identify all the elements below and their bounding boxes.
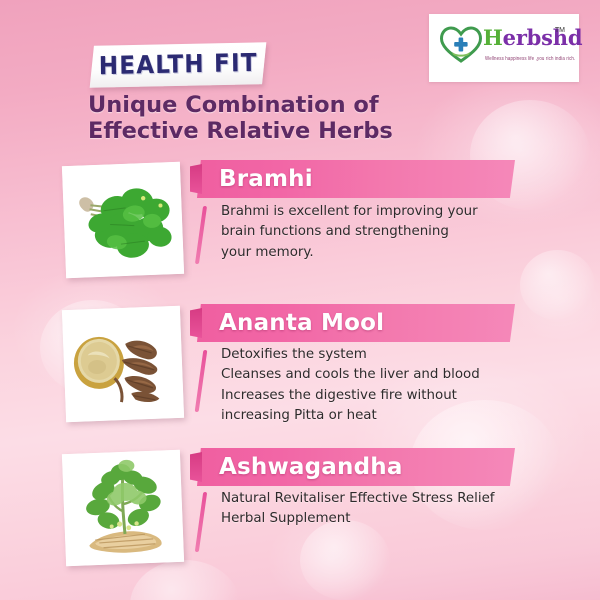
herb-name-ananta-mool: Ananta Mool [219, 310, 384, 336]
health-fit-badge: HEALTH FIT [90, 42, 267, 88]
banner-notch-ananta-mool [190, 308, 202, 338]
herb-banner-ashwagandha: Ashwagandha [197, 448, 515, 486]
banner-notch-bramhi [190, 164, 202, 194]
herb-name-ashwagandha: Ashwagandha [219, 454, 403, 480]
accent-stroke-bramhi [195, 206, 207, 264]
herb-photo-ashwagandha [62, 450, 184, 566]
poster-subtitle: Unique Combination of Effective Relative… [88, 93, 418, 144]
bokeh-decoration [520, 250, 595, 320]
ashwagandha-plant-icon [62, 450, 184, 566]
brand-logo-tagline: Wellness happiness life ,you rich india … [485, 55, 575, 61]
subtitle-line-2: Effective Relative Herbs [88, 119, 418, 145]
brand-logo-rest-letters: erbshd [503, 25, 583, 50]
poster-canvas: HEALTH FIT Unique Combination of Effecti… [0, 0, 600, 600]
brahmi-leaves-icon [62, 162, 184, 278]
herb-banner-ananta-mool: Ananta Mool [197, 304, 515, 342]
bokeh-decoration [130, 560, 240, 600]
herb-photo-bramhi [62, 162, 184, 278]
herb-banner-bramhi: Bramhi [197, 160, 515, 198]
bokeh-decoration [300, 520, 390, 600]
subtitle-line-1: Unique Combination of [88, 93, 418, 119]
health-fit-badge-label: HEALTH FIT [98, 49, 257, 80]
ananta-mool-roots-icon [62, 306, 184, 422]
brand-logo: Herbshd TM Wellness happiness life ,you … [429, 14, 579, 82]
brand-logo-lead-letter: H [483, 25, 503, 50]
trademark-symbol: TM [555, 27, 565, 34]
accent-stroke-ashwagandha [195, 492, 207, 552]
heart-with-medical-cross-icon [439, 25, 483, 63]
herb-photo-ananta-mool [62, 306, 184, 422]
brand-logo-inner: Herbshd TM Wellness happiness life ,you … [437, 25, 571, 69]
herb-description-bramhi: Brahmi is excellent for improving your b… [221, 202, 511, 263]
brand-logo-wordmark: Herbshd [483, 27, 582, 48]
banner-notch-ashwagandha [190, 452, 202, 482]
herb-name-bramhi: Bramhi [219, 166, 313, 192]
herb-description-ananta-mool: Detoxifies the system Cleanses and cools… [221, 345, 521, 427]
accent-stroke-ananta-mool [195, 350, 208, 412]
herb-description-ashwagandha: Natural Revitaliser Effective Stress Rel… [221, 489, 521, 530]
